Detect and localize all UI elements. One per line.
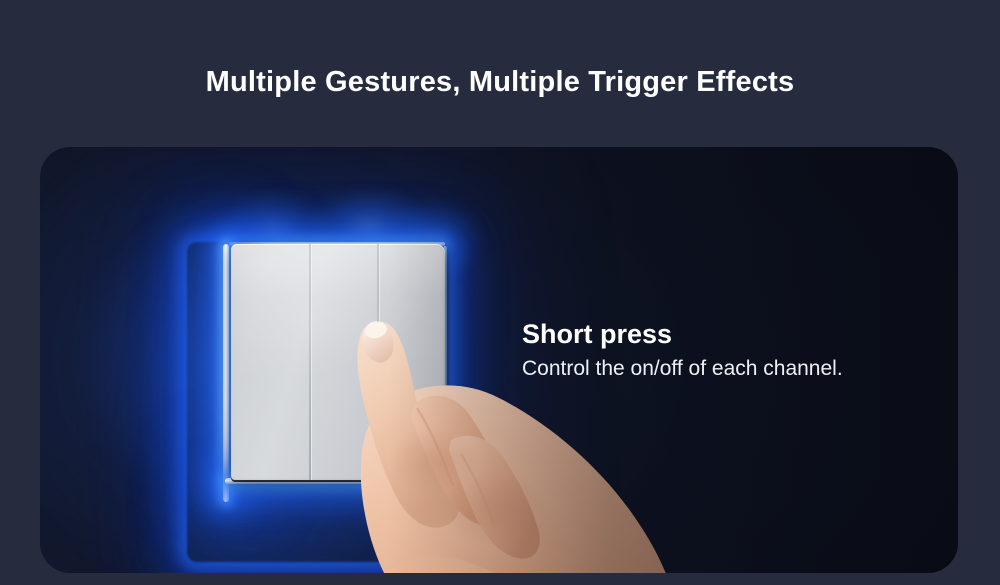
caption-title: Short press (522, 317, 952, 351)
product-photo-card: Short press Control the on/off of each c… (40, 147, 958, 573)
gang-divider-1 (309, 244, 311, 480)
gang-divider-2 (377, 244, 379, 480)
plate-sheen (231, 244, 445, 480)
switch-plate[interactable] (231, 244, 445, 480)
promo-banner: Multiple Gestures, Multiple Trigger Effe… (0, 0, 1000, 585)
page-title: Multiple Gestures, Multiple Trigger Effe… (0, 62, 1000, 102)
wall-switch-panel (185, 232, 455, 572)
caption-subtitle: Control the on/off of each channel. (522, 355, 952, 383)
feature-caption: Short press Control the on/off of each c… (522, 317, 952, 383)
